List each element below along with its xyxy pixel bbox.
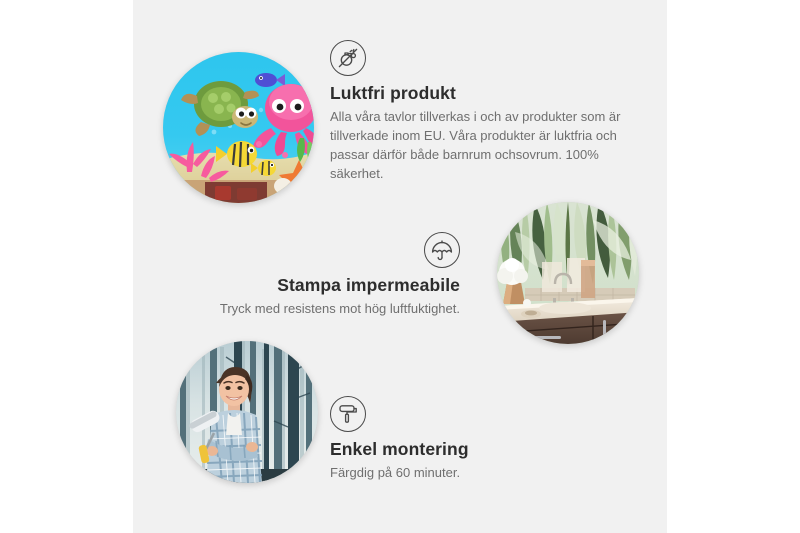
feature-assembly: Enkel montering Färgdig på 60 minuter.: [330, 396, 580, 483]
feature-body: Färgdig på 60 minuter.: [330, 464, 580, 483]
feature-waterproof: Stampa impermeabile Tryck med resistens …: [195, 232, 460, 319]
photo-underwater-cartoon-scene: [163, 52, 314, 203]
umbrella-icon: [424, 232, 460, 268]
feature-title: Enkel montering: [330, 439, 580, 460]
feature-odourless: Luktfri produkt Alla våra tavlor tillver…: [330, 40, 626, 183]
feature-body: Alla våra tavlor tillverkas i och av pro…: [330, 108, 626, 183]
feature-body: Tryck med resistens mot hög luftfuktighe…: [195, 300, 460, 319]
feature-title: Luktfri produkt: [330, 83, 626, 104]
feature-showcase: Luktfri produkt Alla våra tavlor tillver…: [0, 0, 800, 533]
feature-title: Stampa impermeabile: [195, 275, 460, 296]
photo-decorator-forest-scene: [176, 341, 318, 483]
photo-bathroom-vanity-scene: [497, 202, 639, 344]
paint-roller-icon: [330, 396, 366, 432]
no-fragrance-icon: [330, 40, 366, 76]
